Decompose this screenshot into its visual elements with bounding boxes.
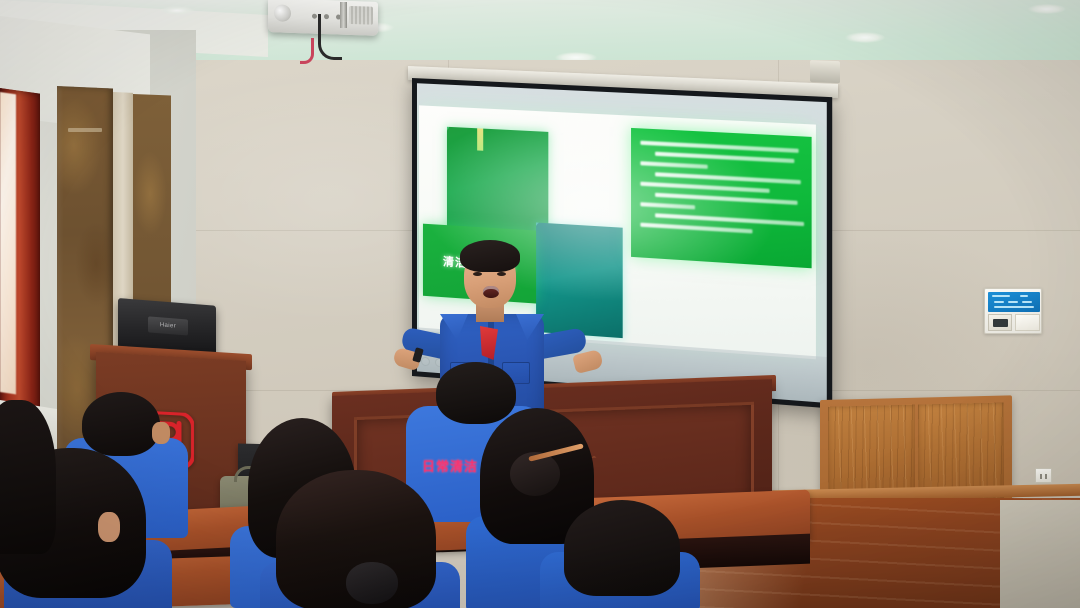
slide-bullet-line <box>655 152 794 163</box>
slide-bullet-line <box>655 172 801 184</box>
thermostat-display[interactable] <box>988 314 1012 331</box>
projector-cable-accent <box>300 38 314 64</box>
projector-cable <box>318 14 342 60</box>
presenter-mouth <box>483 286 499 298</box>
attendee-hair <box>82 392 160 456</box>
attendee-far-left-partial <box>0 400 60 560</box>
conference-room-photo: 清洁生产措施 <box>0 0 1080 608</box>
attendee-ear <box>98 512 120 542</box>
slide-bullet-line <box>640 223 752 234</box>
slide-bullet-line <box>640 202 694 209</box>
hair-scrunchie <box>346 562 398 604</box>
column-notch <box>68 128 102 132</box>
projector-lens-icon <box>274 4 291 22</box>
slide-bullet-line <box>655 193 797 205</box>
light-switch[interactable] <box>1015 314 1040 331</box>
monitor-brand-badge: Haier <box>148 316 188 335</box>
downlight-4 <box>1028 4 1066 14</box>
attendee-front-center-female: 龙 <box>250 470 470 608</box>
presenter-hair <box>460 240 520 272</box>
projector-vent <box>349 6 373 25</box>
slide-bullet-line <box>640 161 707 169</box>
presenter-eye-left <box>473 272 482 276</box>
monitor-brand-text: Haier <box>160 322 176 329</box>
slide-bullet-line <box>640 182 769 193</box>
wall-control-panel[interactable] <box>984 288 1042 334</box>
attendee-hair <box>564 500 680 596</box>
attendee-hair <box>0 400 56 554</box>
projector-port <box>312 14 317 19</box>
floor-strip <box>1000 500 1080 608</box>
attendee-ear <box>152 422 170 444</box>
green-bullet-panel <box>631 128 812 268</box>
wall-power-outlet <box>1035 468 1052 483</box>
slide-bullet-line <box>640 141 798 153</box>
presenter-eye-right <box>497 272 506 276</box>
screen-housing-bracket <box>810 60 840 83</box>
downlight-3 <box>845 32 885 43</box>
control-panel-lcd <box>988 292 1040 312</box>
window-glass <box>0 92 16 394</box>
attendee-far-right-female <box>540 500 700 608</box>
downlight-5 <box>160 6 194 15</box>
